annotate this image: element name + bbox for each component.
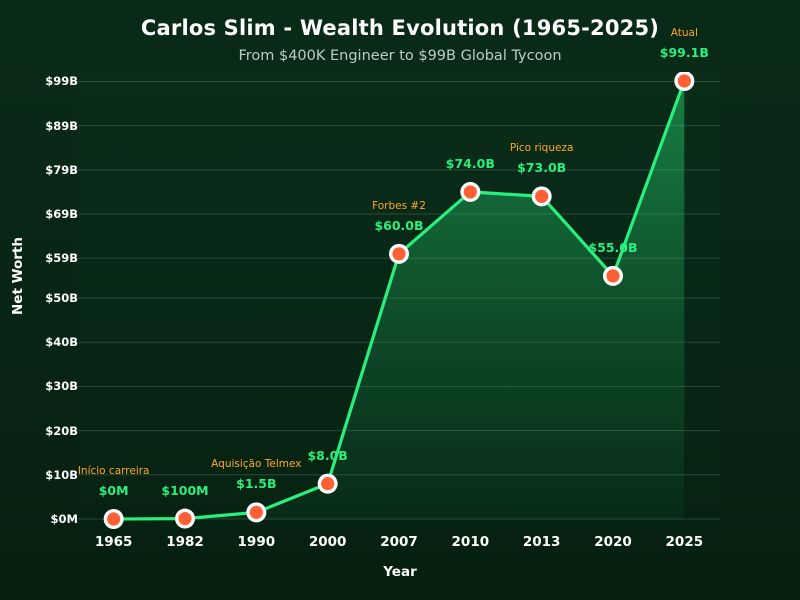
y-axis-tick-label: $40B	[0, 335, 78, 349]
y-axis-tick-label: $20B	[0, 424, 78, 438]
data-point-value-label: $1.5B	[196, 476, 316, 491]
x-axis-title: Year	[0, 564, 800, 580]
data-point-marker[interactable]	[107, 512, 120, 525]
data-point-value-label: $73.0B	[482, 160, 602, 175]
data-point-marker[interactable]	[321, 477, 334, 490]
y-axis-tick-label: $50B	[0, 291, 78, 305]
data-point-value-label: $55.0B	[553, 240, 673, 255]
data-point-value-label: $8.0B	[268, 448, 388, 463]
y-axis-title: Net Worth	[10, 226, 26, 326]
data-point-marker[interactable]	[678, 74, 691, 87]
data-point-marker[interactable]	[535, 190, 548, 203]
data-point-marker[interactable]	[606, 269, 619, 282]
data-point-annotation-label: Pico riqueza	[462, 142, 622, 154]
data-point-value-label: $60.0B	[339, 218, 459, 233]
y-axis-tick-label: $99B	[0, 74, 78, 88]
data-point-marker[interactable]	[392, 247, 405, 260]
y-axis-tick-label: $30B	[0, 379, 78, 393]
series-svg	[78, 72, 720, 530]
y-axis-tick-label: $59B	[0, 251, 78, 265]
y-axis-tick-label: $79B	[0, 163, 78, 177]
data-point-annotation-label: Início carreira	[34, 465, 194, 477]
data-point-marker[interactable]	[178, 512, 191, 525]
data-point-annotation-label: Forbes #2	[319, 200, 479, 212]
data-point-marker[interactable]	[464, 185, 477, 198]
y-axis-tick-label: $69B	[0, 207, 78, 221]
data-point-annotation-label: Atual	[604, 27, 764, 39]
data-point-value-label: $99.1B	[624, 45, 744, 60]
y-axis-tick-label: $89B	[0, 119, 78, 133]
plot-area	[78, 72, 720, 530]
chart-canvas: Carlos Slim - Wealth Evolution (1965-202…	[0, 0, 800, 600]
data-point-marker[interactable]	[250, 506, 263, 519]
x-axis-tick-label: 2025	[639, 534, 729, 550]
y-axis-tick-label: $0M	[0, 512, 78, 526]
